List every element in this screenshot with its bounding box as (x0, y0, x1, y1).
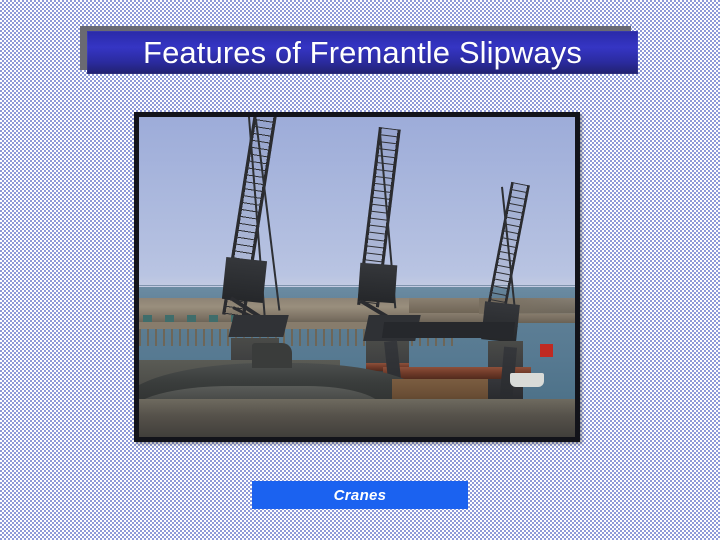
page-title: Features of Fremantle Slipways (143, 37, 582, 68)
title-box: Features of Fremantle Slipways (87, 31, 638, 74)
photo-frame (134, 112, 580, 442)
slide-photo (139, 117, 575, 437)
left-crane-machinery-house (222, 257, 268, 303)
centre-crane-machinery-house (358, 263, 398, 304)
presentation-slide: Features of Fremantle Slipways (0, 0, 720, 540)
travelling-crane-crosshead (382, 322, 515, 338)
slide-title-block: Features of Fremantle Slipways (80, 26, 640, 76)
left-crane-gantry (228, 315, 288, 337)
small-white-boat (510, 373, 545, 387)
red-flag (540, 344, 553, 357)
vessel-superstructure (252, 343, 291, 369)
photo-caption-box: Cranes (252, 481, 468, 509)
photo-caption-label: Cranes (334, 488, 387, 503)
slipway-apron (139, 399, 575, 437)
